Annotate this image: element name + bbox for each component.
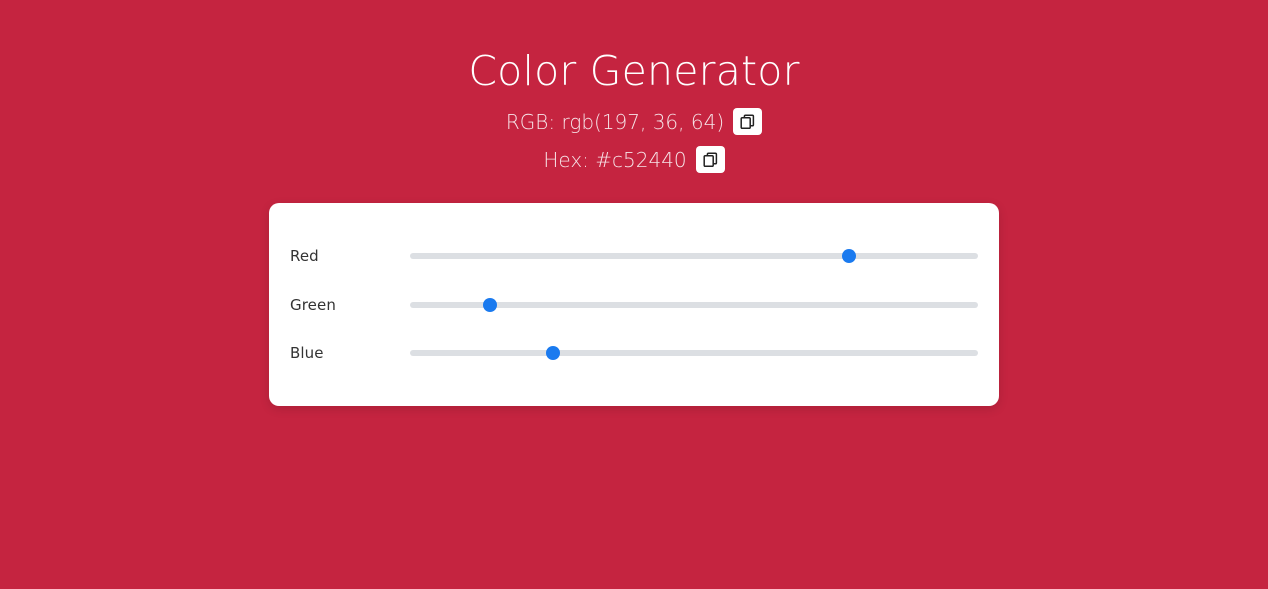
header: Color Generator RGB: rgb(197, 36, 64) He… [0,0,1268,173]
slider-row-green: Green [269,293,999,317]
app-root: Color Generator RGB: rgb(197, 36, 64) He… [0,0,1268,589]
copy-rgb-button[interactable] [733,108,762,135]
slider-thumb-blue[interactable] [546,346,560,360]
slider-track-blue[interactable] [410,350,978,356]
hex-value-text: Hex: #c52440 [543,148,686,172]
slider-thumb-green[interactable] [483,298,497,312]
slider-track-red[interactable] [410,253,978,259]
copy-icon [740,114,755,130]
slider-row-blue: Blue [269,341,999,365]
slider-label-blue: Blue [290,344,324,362]
slider-thumb-red[interactable] [842,249,856,263]
rgb-value-text: RGB: rgb(197, 36, 64) [506,110,724,134]
copy-icon [703,152,718,168]
hex-readout-row: Hex: #c52440 [0,146,1268,173]
copy-hex-button[interactable] [696,146,725,173]
page-title: Color Generator [0,48,1268,95]
slider-card: Red Green Blue [269,203,999,406]
rgb-readout-row: RGB: rgb(197, 36, 64) [0,108,1268,135]
slider-blue[interactable] [410,341,978,365]
slider-row-red: Red [269,244,999,268]
slider-label-red: Red [290,247,319,265]
slider-green[interactable] [410,293,978,317]
slider-label-green: Green [290,296,336,314]
slider-red[interactable] [410,244,978,268]
